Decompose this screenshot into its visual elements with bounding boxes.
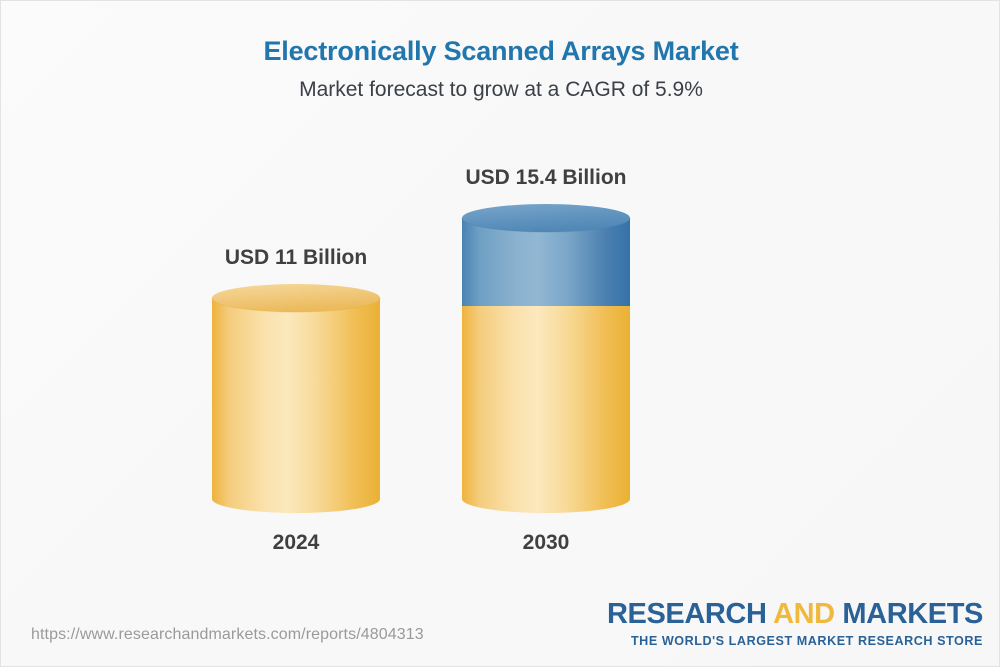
chart-plot-area: USD 11 Billion <box>1 1 1000 667</box>
logo-part-and: AND <box>773 598 835 630</box>
logo-part-markets: MARKETS <box>842 598 983 630</box>
logo-part-research: RESEARCH <box>607 598 767 630</box>
source-url[interactable]: https://www.researchandmarkets.com/repor… <box>31 626 424 644</box>
category-label-2030: 2030 <box>416 531 676 555</box>
cylinder-segment-base <box>462 306 630 513</box>
logo-tagline: THE WORLD'S LARGEST MARKET RESEARCH STOR… <box>607 635 983 648</box>
value-label-2024: USD 11 Billion <box>166 246 426 270</box>
cylinder-2024 <box>211 284 381 513</box>
value-label-2030: USD 15.4 Billion <box>416 166 676 190</box>
cylinder-body <box>212 298 380 513</box>
cylinder-2024-svg <box>211 284 381 513</box>
category-label-2024: 2024 <box>166 531 426 555</box>
logo-wordmark: RESEARCH AND MARKETS <box>607 600 983 629</box>
cylinder-2030 <box>461 204 631 513</box>
cylinder-2030-svg <box>461 204 631 513</box>
chart-card: Electronically Scanned Arrays Market Mar… <box>0 0 1000 667</box>
research-and-markets-logo[interactable]: RESEARCH AND MARKETS THE WORLD'S LARGEST… <box>607 600 983 648</box>
